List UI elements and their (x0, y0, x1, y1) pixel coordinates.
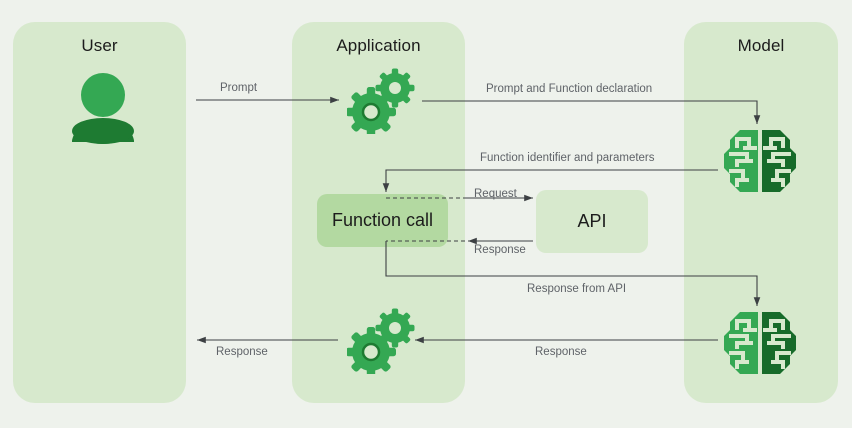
gears-icon (347, 68, 419, 134)
panel-model-title: Model (684, 36, 838, 56)
edge-label-response-api: Response (474, 244, 526, 256)
edge-label-response-app-to-user: Response (216, 346, 268, 358)
node-function-call[interactable]: Function call (317, 194, 448, 247)
brain-icon (722, 128, 798, 194)
edge-label-response-from-api: Response from API (527, 283, 626, 295)
panel-application-title: Application (292, 36, 465, 56)
brain-icon-response (722, 310, 798, 376)
gears-icon-response (347, 308, 419, 374)
user-avatar-icon (72, 72, 134, 144)
diagram-canvas: User Application Model (0, 0, 852, 428)
edge-label-function-identifier-and-parameters: Function identifier and parameters (480, 152, 655, 164)
node-function-call-label: Function call (332, 210, 433, 231)
edge-label-prompt: Prompt (220, 82, 257, 94)
edge-label-prompt-and-function-declaration: Prompt and Function declaration (486, 83, 652, 95)
node-api-label: API (577, 211, 606, 232)
edge-label-request: Request (474, 188, 517, 200)
edge-label-response-model-to-app: Response (535, 346, 587, 358)
node-api[interactable]: API (536, 190, 648, 253)
panel-user-title: User (13, 36, 186, 56)
